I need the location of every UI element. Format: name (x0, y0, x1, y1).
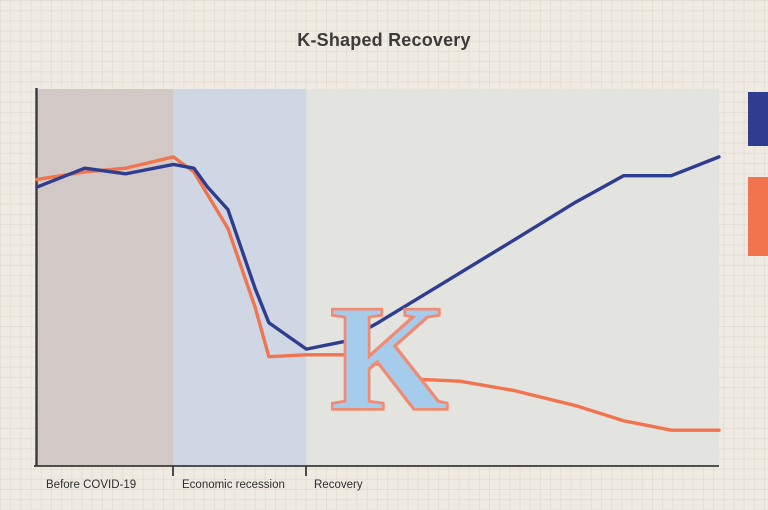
chart-container: K-Shaped Recovery K Before COVID-19 Econ… (0, 0, 768, 510)
phase-label-economic-recession: Economic recession (182, 479, 285, 491)
phase-label-before-covid: Before COVID-19 (46, 479, 136, 491)
chart-title: K-Shaped Recovery (0, 30, 768, 51)
band-before-covid (37, 89, 173, 466)
k-shape-watermark: K (330, 282, 448, 434)
legend-swatch-series-1[interactable] (748, 92, 768, 146)
phase-label-recovery: Recovery (314, 479, 363, 491)
legend-swatch-series-2[interactable] (748, 177, 768, 256)
band-economic-recession (173, 89, 306, 466)
